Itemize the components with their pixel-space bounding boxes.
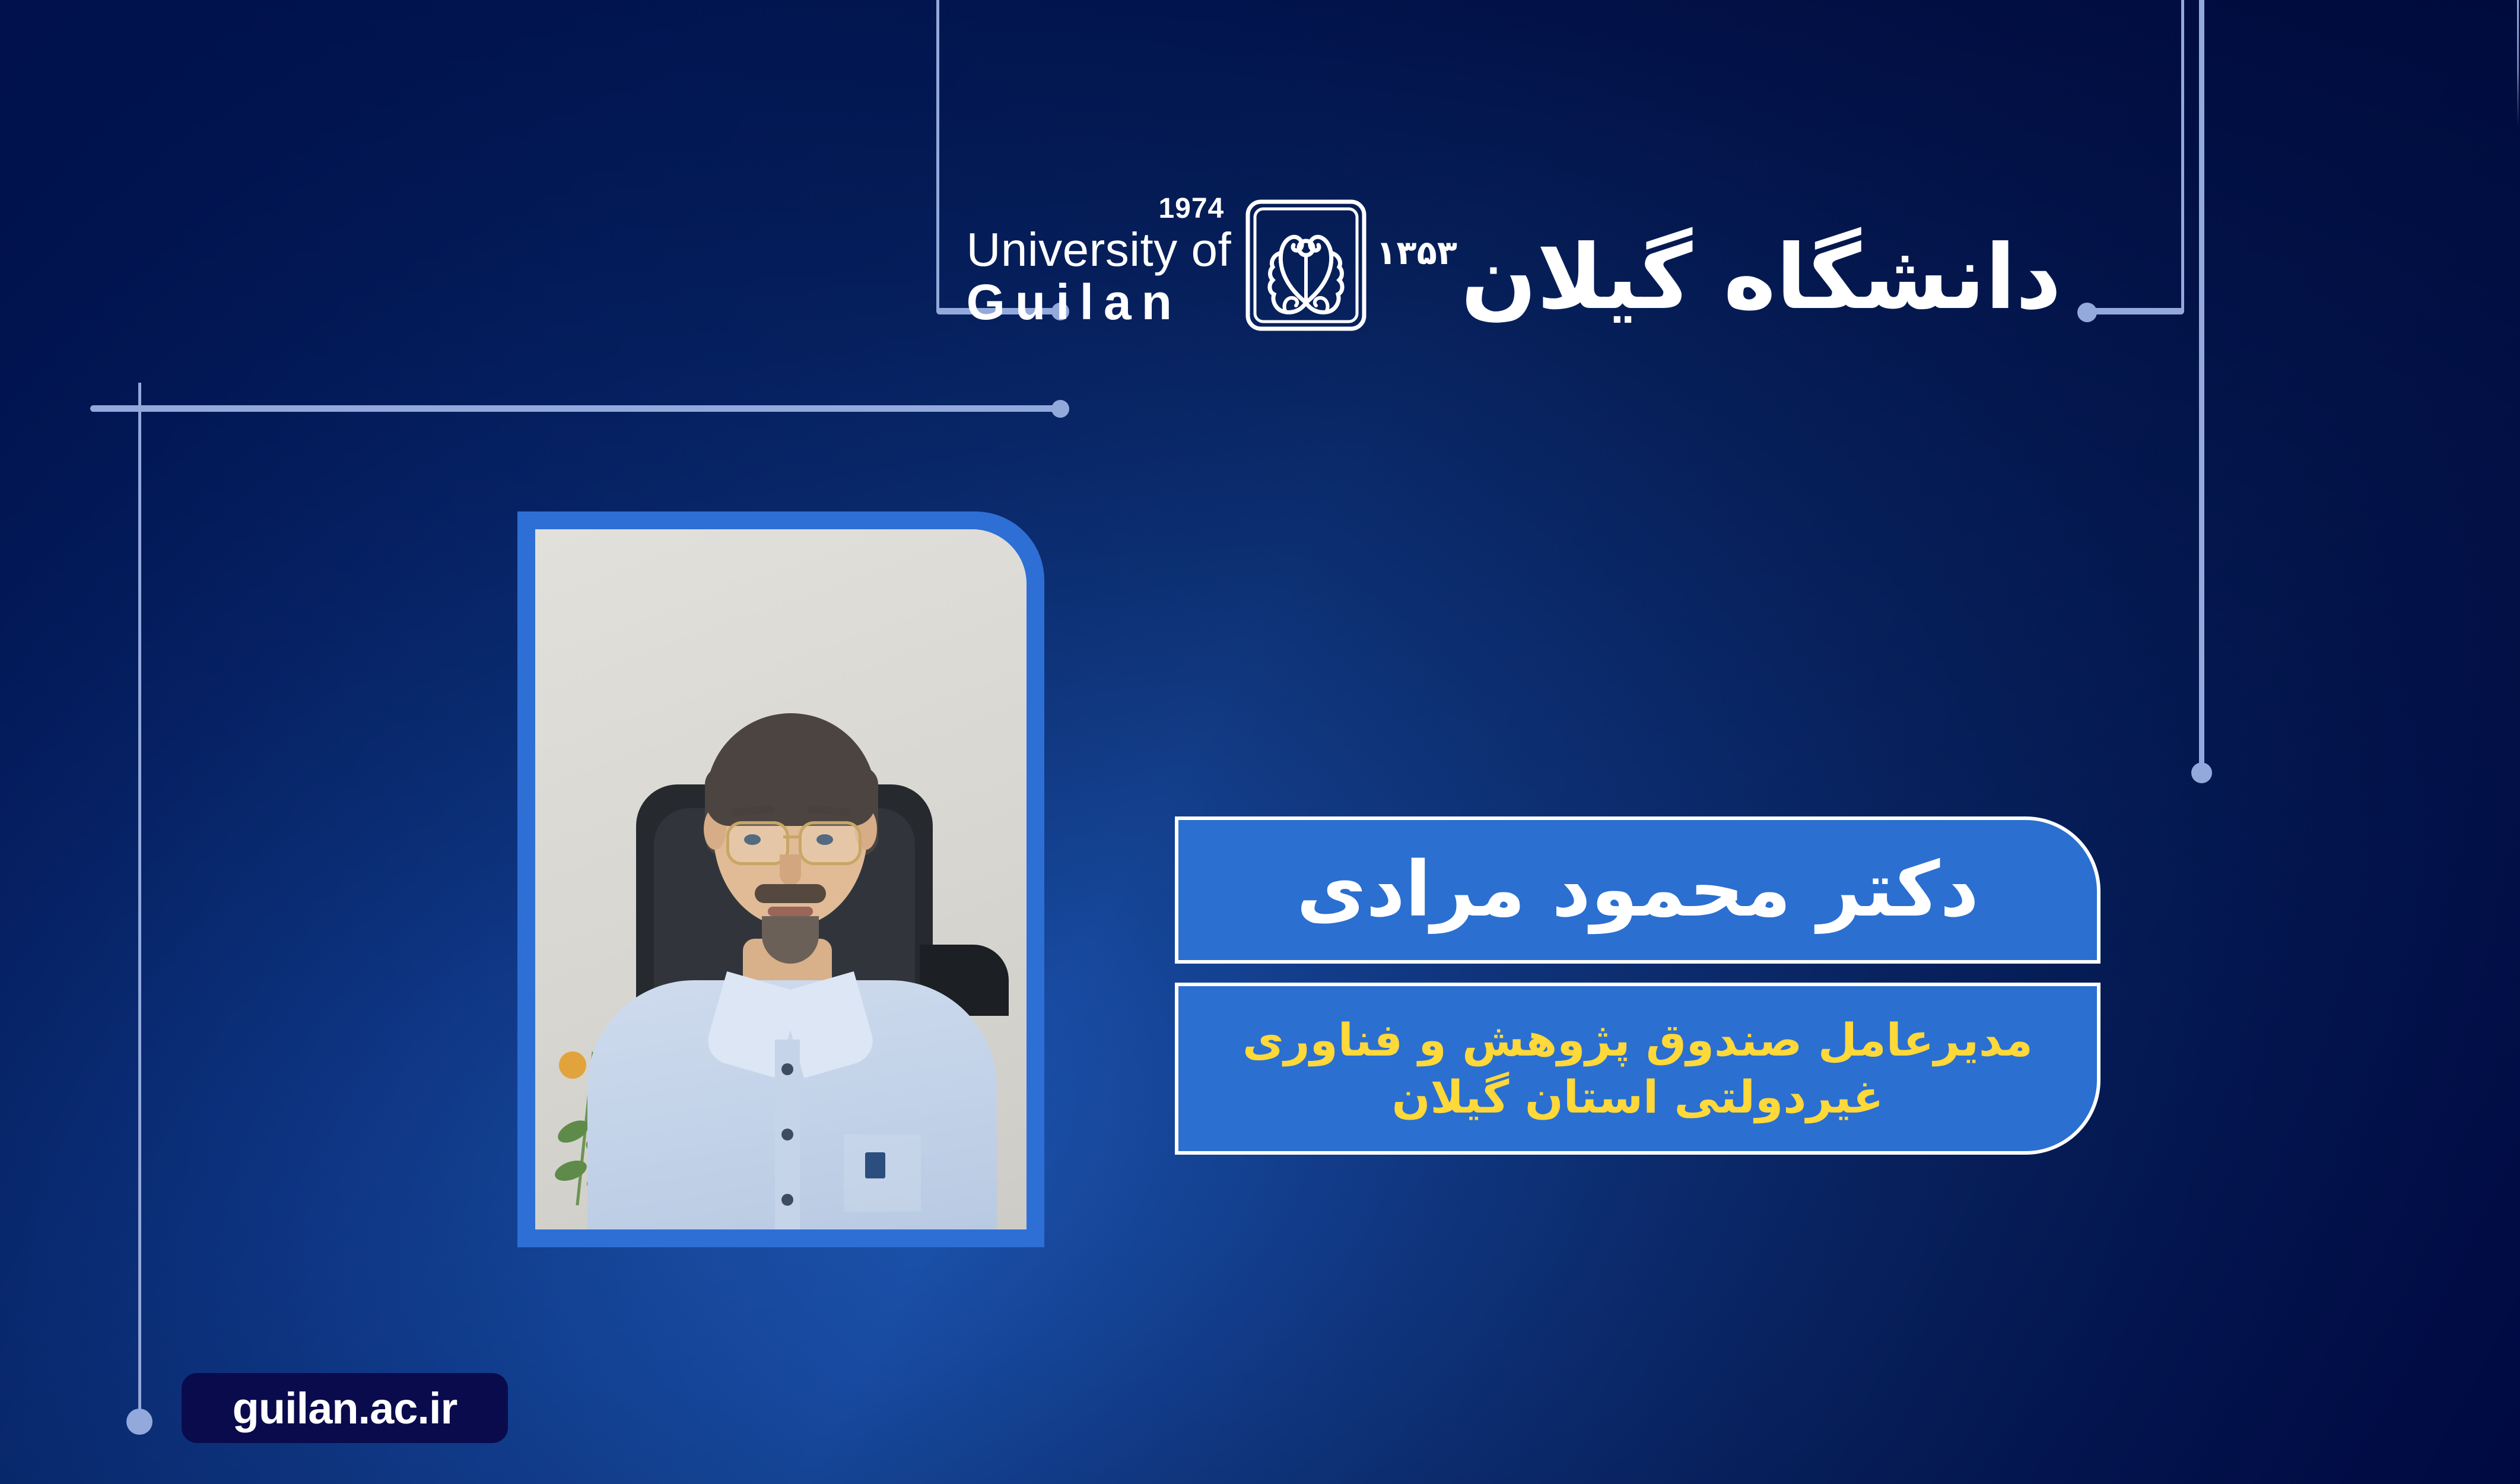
decorative-line-vertical-top-left — [936, 0, 939, 311]
logo-english-block: 1974 University of Guilan — [967, 225, 1232, 330]
logo-line-university: University of — [967, 225, 1232, 274]
decorative-line-vertical-right-long — [2199, 0, 2204, 769]
logo-university-name-fa: دانشگاه گیلان — [1461, 233, 2061, 322]
website-url: guilan.ac.ir — [233, 1383, 457, 1434]
guilan-university-emblem-icon — [1244, 198, 1368, 332]
decorative-dot-top-right — [2077, 303, 2097, 322]
decorative-line-horizontal-mid-left — [90, 405, 1062, 412]
poster-canvas: دانشگاه گیلان ۱۳۵۳ 1974 University of Gu… — [0, 0, 2520, 1484]
person-name: دکتر محمود مرادی — [1296, 852, 1979, 928]
logo-line-guilan: Guilan — [967, 274, 1232, 330]
portrait-photo — [535, 529, 1027, 1229]
website-badge[interactable]: guilan.ac.ir — [182, 1373, 508, 1443]
logo-founding-year-fa: ۱۳۵۳ — [1376, 234, 1457, 272]
decorative-line-vertical-top-right — [2181, 0, 2184, 312]
photo-moustache — [755, 884, 826, 903]
person-name-banner: دکتر محمود مرادی — [1175, 816, 2100, 964]
logo-founding-year-en: 1974 — [1158, 192, 1224, 225]
decorative-dot-right — [2191, 762, 2212, 783]
person-title-banner: مدیرعامل صندوق پژوهش و فناوری غیردولتی ا… — [1175, 983, 2100, 1155]
person-title: مدیرعامل صندوق پژوهش و فناوری غیردولتی ا… — [1200, 1012, 2076, 1126]
decorative-dot-bottom-left — [126, 1409, 152, 1435]
portrait-frame — [517, 511, 1044, 1247]
decorative-line-horizontal-top-right — [2087, 308, 2184, 314]
decorative-line-vertical-left — [138, 383, 141, 1418]
university-logo-lockup: دانشگاه گیلان ۱۳۵۳ 1974 University of Gu… — [1163, 201, 2071, 355]
decorative-dot-mid-left — [1051, 400, 1069, 418]
